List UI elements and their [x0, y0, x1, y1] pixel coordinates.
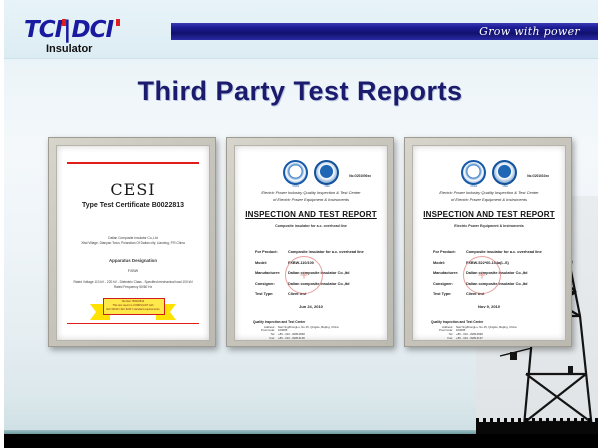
logo-tagline: Insulator — [24, 43, 136, 55]
footer-row: Fax:+86 - 010 - 82813137 — [431, 337, 551, 341]
cesi-subheading: Type Test Certificate B0022813 — [63, 202, 203, 209]
accreditation-logos: CNAS CMA — [419, 160, 559, 184]
report-footer: Quality Inspection and Test Center Addre… — [253, 320, 373, 341]
logo-red-accent-right — [116, 19, 120, 26]
row-key: Test Type: — [433, 292, 466, 297]
accreditation-logos: CNAS CMA — [241, 160, 381, 184]
row-key: Consigner: — [433, 282, 466, 287]
logo-text-dci: DCI — [72, 17, 114, 43]
certificate-sheet: CESI Type Test Certificate B0022813 Dali… — [63, 152, 203, 334]
report-number: No.G201000xx — [349, 174, 371, 178]
report-date: Jun 24, 2010 — [241, 304, 381, 309]
row-key: For Product: — [255, 250, 288, 255]
page-title: Third Party Test Reports — [0, 76, 600, 107]
certificate-sheet: CNAS CMA No.G201010xx Electric Power Ind… — [419, 152, 559, 334]
report-title: INSPECTION AND TEST REPORT — [419, 210, 559, 219]
detail-row: For Product:Composite insulator for a.c.… — [433, 250, 549, 255]
footer-row: Fax:+86 - 010 - 82813136 — [253, 337, 373, 341]
row-key: Model: — [433, 261, 466, 266]
cesi-company: Dalian Composite Insulator Co.,Ltd — [63, 236, 203, 240]
cesi-heading: CESI — [63, 180, 203, 199]
logo-text-tci: TCI — [24, 17, 62, 43]
detail-row: Test Type:Client test — [255, 292, 371, 297]
row-value: Composite insulator for a.c. overhead li… — [288, 250, 371, 255]
cma-seal-caption: CMA — [491, 185, 519, 188]
bottom-black-band — [0, 434, 600, 448]
cesi-address: Xitai Village, Dianyao Town, Pulandian O… — [63, 241, 203, 245]
report-number: No.G201010xx — [527, 174, 549, 178]
row-value: Composite insulator for a.c. overhead li… — [466, 250, 549, 255]
row-key: Manufacturer: — [433, 271, 466, 276]
certificate-frame: CESI Type Test Certificate B0022813 Dali… — [56, 145, 210, 341]
issuing-org-line-1: Electric Power Industry Quality Inspecti… — [241, 190, 381, 196]
cma-seal-icon: CMA — [314, 160, 339, 185]
cesi-compliance-ribbon: Number: B0022813 This test report is COM… — [90, 298, 176, 324]
certificate-frame: CNAS CMA No.G201000xx Electric Power Ind… — [234, 145, 388, 341]
row-key: For Product: — [433, 250, 466, 255]
issuing-org-line-2: of Electric Power Equipment & Instrument… — [419, 197, 559, 203]
footer-key: Fax: — [431, 337, 456, 341]
footer-heading: Quality Inspection and Test Center — [431, 320, 551, 324]
cesi-ratings-line-1: Rated Voltage 110 kV - 220 kV - Dielectr… — [63, 280, 203, 284]
cnas-seal-caption: CNAS — [460, 185, 488, 188]
row-key: Manufacturer: — [255, 271, 288, 276]
cesi-top-rule — [67, 162, 199, 164]
detail-row: Test Type:Client test — [433, 292, 549, 297]
red-approval-stamp-icon — [285, 256, 323, 294]
detail-row: For Product:Composite insulator for a.c.… — [255, 250, 371, 255]
certificate-sheet: CNAS CMA No.G201000xx Electric Power Ind… — [241, 152, 381, 334]
certificate-card-report-1[interactable]: CNAS CMA No.G201000xx Electric Power Ind… — [226, 137, 394, 347]
certificate-card-report-2[interactable]: CNAS CMA No.G201010xx Electric Power Ind… — [404, 137, 572, 347]
ribbon-line-3: IEC 61109 / IEC 62217 standard requireme… — [105, 308, 161, 312]
cesi-apparatus-label: Apparatus Designation — [63, 258, 203, 264]
page-left-edge — [0, 0, 4, 448]
header-divider — [0, 58, 600, 59]
footer-value: +86 - 010 - 82813137 — [456, 337, 483, 341]
issuing-org-line-2: of Electric Power Equipment & Instrument… — [241, 197, 381, 203]
cma-seal-icon: CMA — [492, 160, 517, 185]
cesi-apparatus-value: FXBW — [63, 269, 203, 274]
row-key: Consigner: — [255, 282, 288, 287]
report-title: INSPECTION AND TEST REPORT — [241, 210, 381, 219]
footer-heading: Quality Inspection and Test Center — [253, 320, 373, 324]
cnas-seal-icon: CNAS — [461, 160, 486, 185]
report-footer: Quality Inspection and Test Center Addre… — [431, 320, 551, 341]
cesi-ratings-line-2: Rated Frequency 50/60 Hz — [63, 285, 203, 289]
footer-value: +86 - 010 - 82813136 — [278, 337, 305, 341]
brand-logo: TCI|DCI Insulator — [24, 18, 136, 54]
report-subtitle: Composite insulator for a.c. overhead li… — [241, 224, 381, 228]
slogan-text: Grow with power — [479, 24, 580, 40]
cnas-seal-caption: CNAS — [282, 185, 310, 188]
certificate-frame: CNAS CMA No.G201010xx Electric Power Ind… — [412, 145, 566, 341]
report-subtitle: Electric Power Equipment & Instruments — [419, 224, 559, 228]
report-date: Nov 9, 2010 — [419, 304, 559, 309]
row-key: Test Type: — [255, 292, 288, 297]
logo-wordmark: TCI|DCI — [24, 18, 136, 42]
cma-seal-caption: CMA — [313, 185, 341, 188]
cnas-seal-icon: CNAS — [283, 160, 308, 185]
logo-red-accent-left — [62, 19, 66, 26]
slide-canvas: TCI|DCI Insulator Grow with power Third … — [0, 0, 600, 448]
red-approval-stamp-icon — [463, 256, 501, 294]
certificate-card-cesi[interactable]: CESI Type Test Certificate B0022813 Dali… — [48, 137, 216, 347]
row-key: Model: — [255, 261, 288, 266]
slide-header: TCI|DCI Insulator Grow with power — [0, 0, 600, 58]
footer-key: Fax: — [253, 337, 278, 341]
issuing-org-line-1: Electric Power Industry Quality Inspecti… — [419, 190, 559, 196]
